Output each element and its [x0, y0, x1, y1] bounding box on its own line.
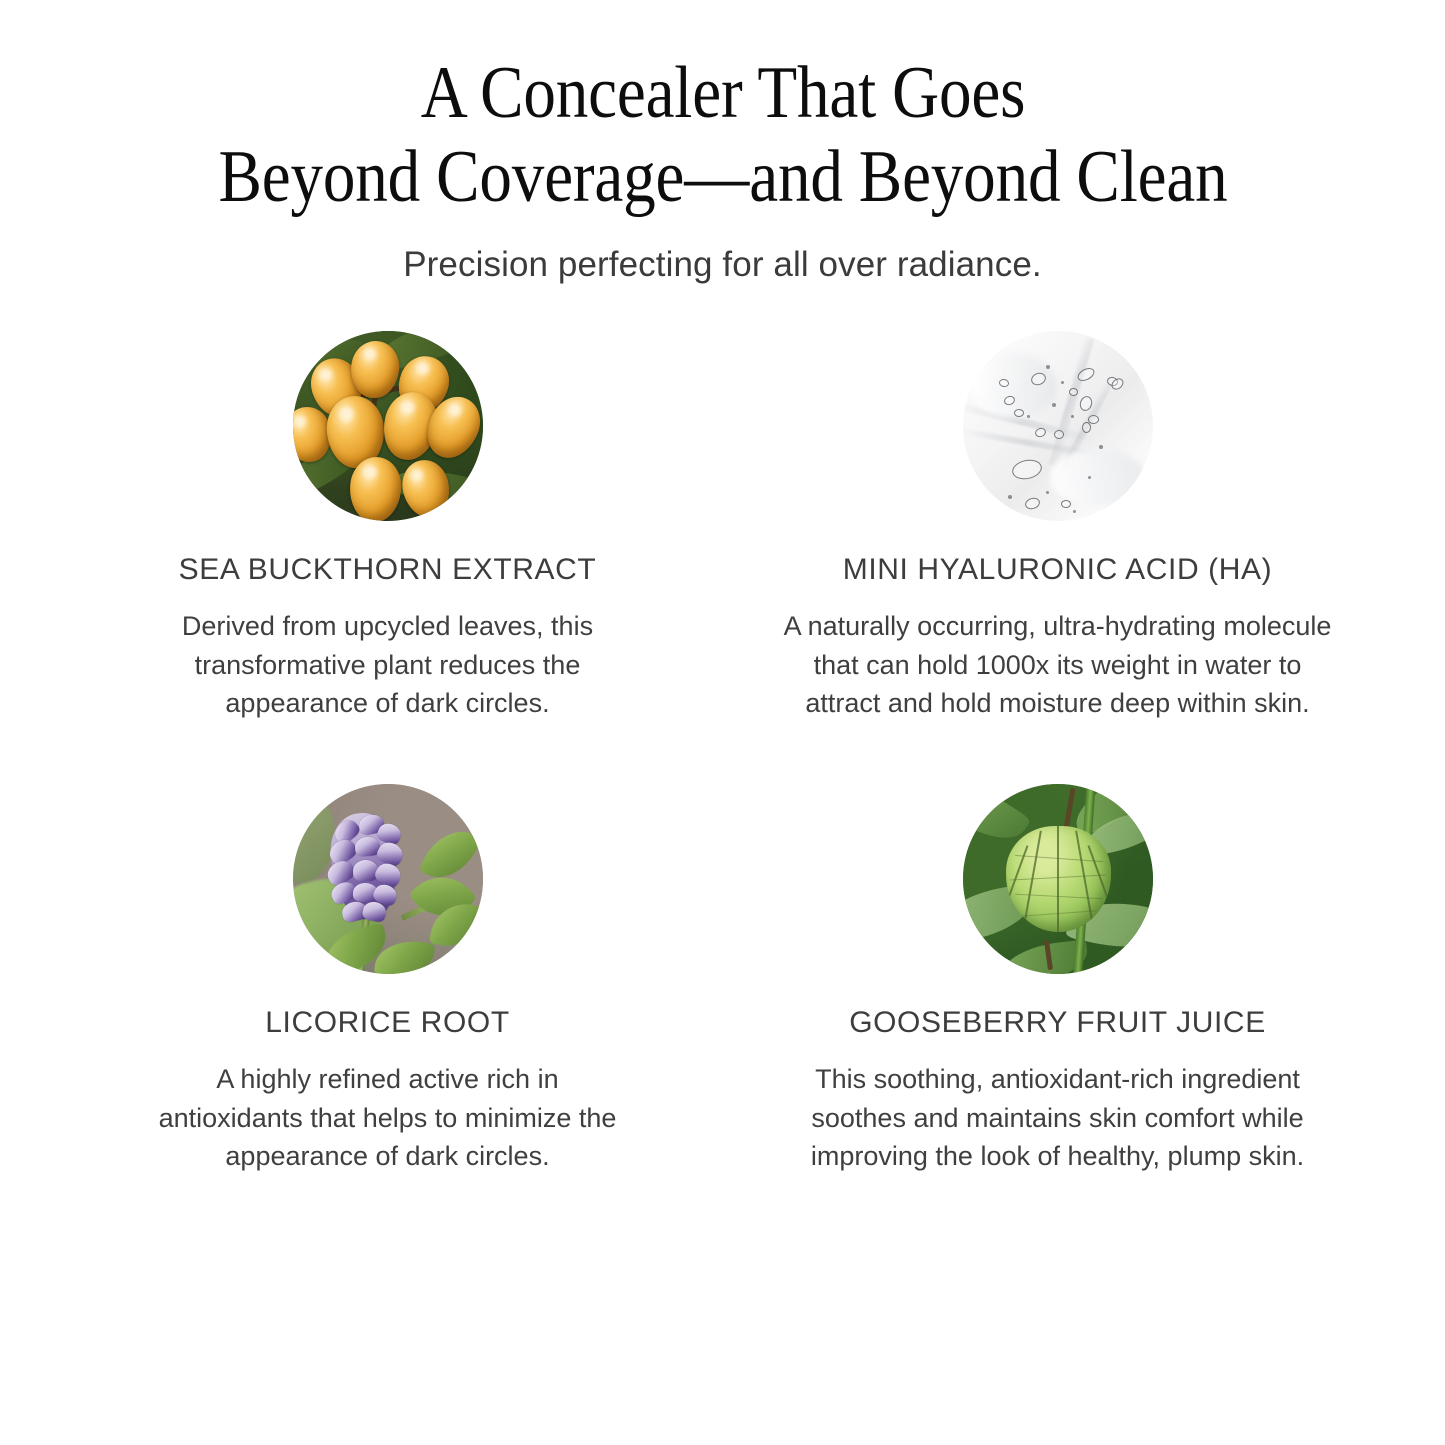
bubble-shape	[1014, 409, 1024, 417]
gooseberry-image	[963, 784, 1153, 974]
ingredient-title: MINI HYALURONIC ACID (HA)	[843, 553, 1272, 587]
ingredient-title: SEA BUCKTHORN EXTRACT	[179, 553, 597, 587]
floret-shape	[353, 860, 378, 882]
ingredient-card-hyaluronic-acid: MINI HYALURONIC ACID (HA) A naturally oc…	[723, 331, 1393, 722]
licorice-flower-scene	[293, 784, 483, 974]
bubble-dot	[1052, 403, 1056, 407]
gooseberry-photo-scene	[963, 784, 1153, 974]
sea-buckthorn-photo-scene	[293, 331, 483, 521]
page-title: A Concealer That Goes Beyond Coverage—an…	[177, 52, 1268, 219]
husk-vein	[1057, 826, 1059, 932]
sea-buckthorn-image	[293, 331, 483, 521]
bubble-shape	[1054, 430, 1064, 439]
bubble-dot	[1008, 495, 1012, 499]
licorice-root-image	[293, 784, 483, 974]
gel-sheen-shape	[970, 354, 1057, 419]
bubble-shape	[1061, 500, 1071, 508]
ingredient-description: A highly refined active rich in antioxid…	[153, 1060, 623, 1175]
ingredient-title: GOOSEBERRY FRUIT JUICE	[849, 1006, 1266, 1040]
bubble-dot	[1071, 415, 1074, 418]
ingredient-description: A naturally occurring, ultra-hydrating m…	[778, 607, 1338, 722]
bubble-dot	[1061, 381, 1064, 384]
ingredient-description: This soothing, antioxidant-rich ingredie…	[778, 1060, 1338, 1175]
bubble-dot	[1046, 491, 1049, 494]
bubble-shape	[1010, 457, 1043, 482]
husk-stem-shape	[1063, 788, 1075, 830]
ingredient-title: LICORICE ROOT	[265, 1006, 510, 1040]
husk-vein	[1075, 831, 1095, 932]
page-subtitle: Precision perfecting for all over radian…	[0, 245, 1445, 285]
gel-sheen-shape	[1050, 449, 1145, 506]
bubble-shape	[1024, 497, 1041, 512]
bubble-shape	[1082, 422, 1091, 433]
ingredient-card-gooseberry: GOOSEBERRY FRUIT JUICE This soothing, an…	[723, 784, 1393, 1175]
ingredient-card-licorice-root: LICORICE ROOT A highly refined active ri…	[53, 784, 723, 1175]
ingredient-description: Derived from upcycled leaves, this trans…	[153, 607, 623, 722]
ingredient-grid: SEA BUCKTHORN EXTRACT Derived from upcyc…	[53, 285, 1393, 1175]
headline-line-2: Beyond Coverage—and Beyond Clean	[177, 136, 1268, 220]
gel-texture-scene	[963, 331, 1153, 521]
berry-shape	[397, 456, 453, 521]
headline-line-1: A Concealer That Goes	[177, 52, 1268, 136]
hyaluronic-acid-image	[963, 331, 1153, 521]
ingredient-card-sea-buckthorn: SEA BUCKTHORN EXTRACT Derived from upcyc…	[53, 331, 723, 722]
bubble-dot	[1088, 476, 1091, 479]
bubble-dot	[1027, 415, 1030, 418]
ingredient-infographic-page: A Concealer That Goes Beyond Coverage—an…	[0, 0, 1445, 1445]
page-header: A Concealer That Goes Beyond Coverage—an…	[0, 0, 1445, 285]
bubble-dot	[1073, 510, 1076, 513]
